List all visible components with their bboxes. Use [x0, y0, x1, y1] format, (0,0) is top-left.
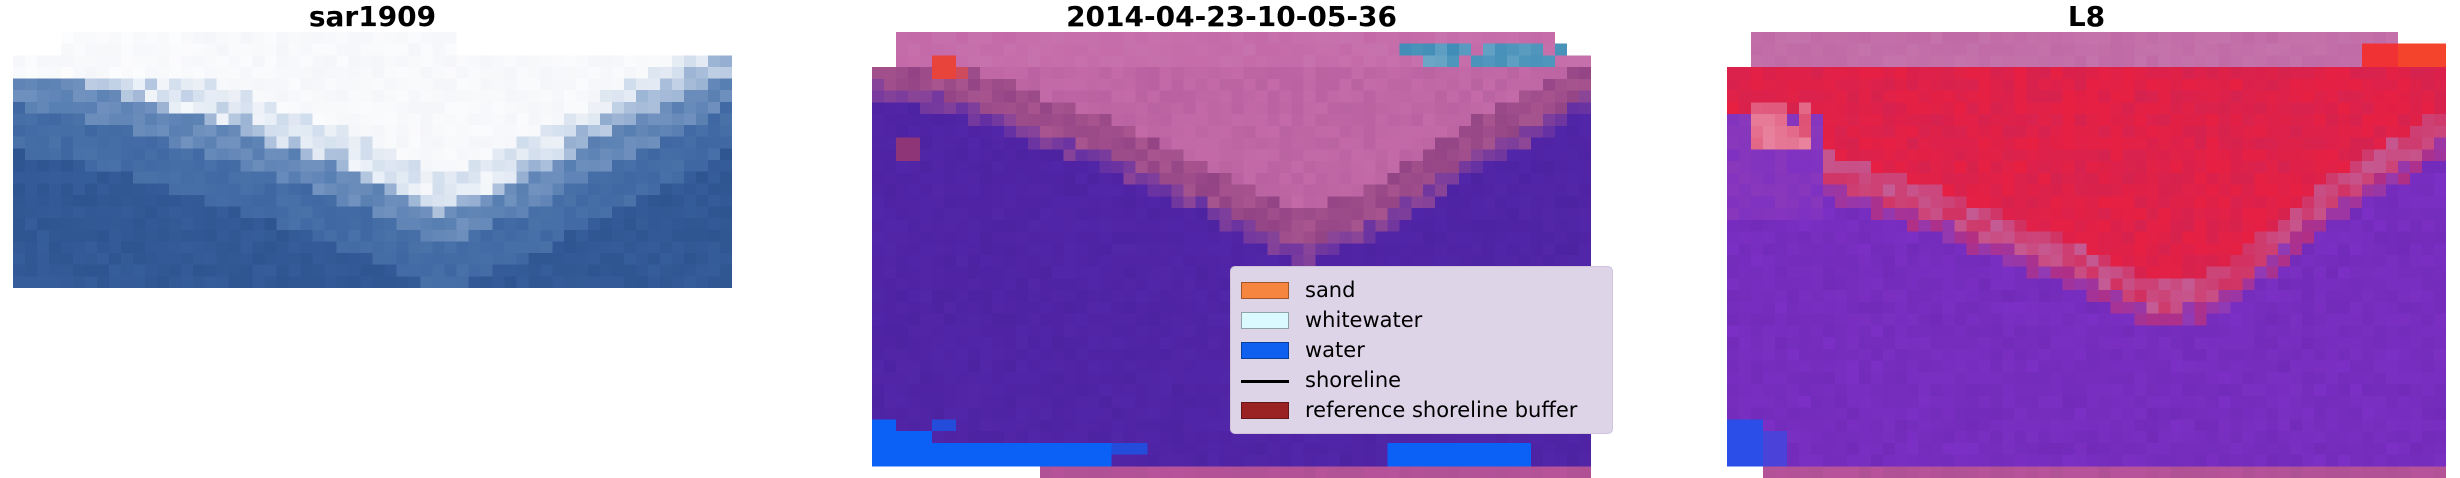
legend-line-shoreline — [1241, 380, 1289, 383]
image-axes-sar1909[interactable] — [13, 32, 732, 288]
legend-item-whitewater[interactable]: whitewater — [1241, 305, 1602, 335]
legend-label-reference-buffer: reference shoreline buffer — [1305, 400, 1577, 421]
legend-label-shoreline: shoreline — [1305, 370, 1401, 391]
l8-overlay-image — [1727, 32, 2446, 478]
panel-title-sar1909: sar1909 — [13, 2, 732, 32]
panel-title-l8: L8 — [1727, 2, 2446, 32]
sar-rgb-image — [13, 32, 732, 288]
figure-root: sar1909 2014-04-23-10-05-36 L8 sand whit… — [0, 0, 2460, 478]
legend-swatch-whitewater — [1241, 312, 1289, 329]
legend-swatch-water — [1241, 342, 1289, 359]
legend-item-water[interactable]: water — [1241, 335, 1602, 365]
legend-label-whitewater: whitewater — [1305, 310, 1422, 331]
legend-label-water: water — [1305, 340, 1365, 361]
panel-sar1909: sar1909 — [13, 0, 732, 478]
classification-legend: sand whitewater water shoreline referenc… — [1230, 266, 1613, 434]
legend-swatch-sand — [1241, 282, 1289, 299]
legend-item-shoreline[interactable]: shoreline — [1241, 365, 1602, 395]
legend-swatch-reference-buffer — [1241, 402, 1289, 419]
image-axes-l8[interactable] — [1727, 32, 2446, 478]
legend-item-reference-buffer[interactable]: reference shoreline buffer — [1241, 395, 1602, 425]
panel-l8: L8 — [1727, 0, 2446, 478]
legend-label-sand: sand — [1305, 280, 1355, 301]
legend-item-sand[interactable]: sand — [1241, 275, 1602, 305]
panel-title-date: 2014-04-23-10-05-36 — [872, 2, 1591, 32]
